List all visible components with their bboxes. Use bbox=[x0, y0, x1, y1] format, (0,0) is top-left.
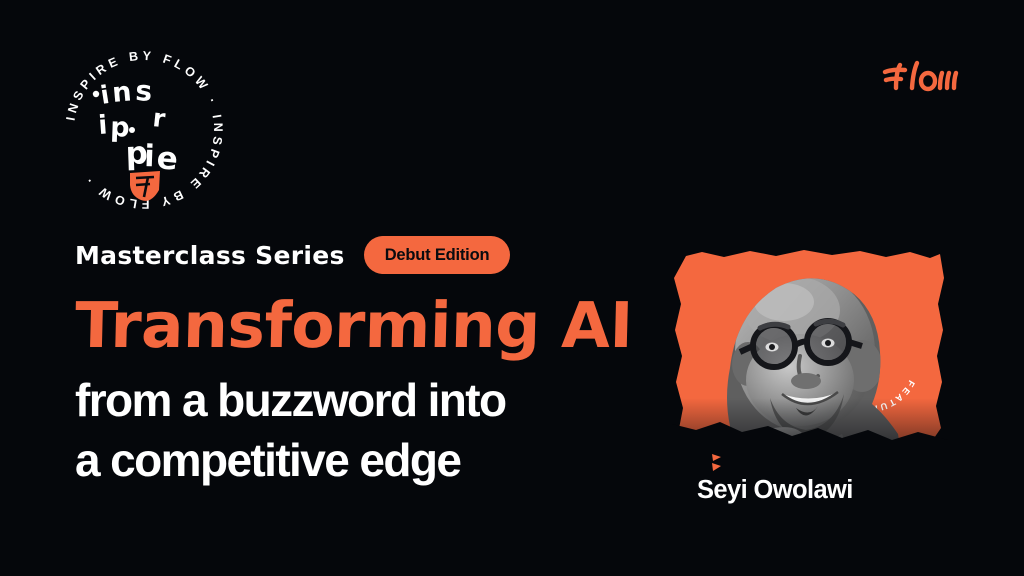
headline-subtext-line-1: from a buzzword into bbox=[75, 371, 675, 431]
badge-letter-s: s bbox=[135, 74, 153, 108]
badge-dot-mid bbox=[129, 127, 135, 133]
badge-letter-i3: i bbox=[144, 139, 156, 174]
masterclass-series-label: Masterclass Series bbox=[75, 241, 345, 270]
flow-wordmark-logo bbox=[880, 58, 962, 96]
speaker-card: FEATURING · FEATURING · bbox=[672, 248, 960, 516]
headline-subtext: from a buzzword into a competitive edge bbox=[75, 371, 675, 491]
badge-dot-left bbox=[93, 91, 99, 97]
badge-center-word: i n s i p r p i e bbox=[93, 74, 180, 178]
debut-edition-pill: Debut Edition bbox=[364, 236, 511, 274]
badge-letter-i2: i bbox=[97, 110, 108, 141]
badge-letter-r: r bbox=[151, 103, 167, 133]
poster-copy-block: Masterclass Series Debut Edition Transfo… bbox=[75, 236, 675, 491]
eyebrow-row: Masterclass Series Debut Edition bbox=[75, 236, 675, 274]
speaker-photo-block: FEATURING · FEATURING · bbox=[672, 248, 948, 476]
headline-accent: Transforming AI bbox=[74, 294, 676, 357]
headline-subtext-line-2: a competitive edge bbox=[75, 431, 675, 491]
orange-double-chevron-icon bbox=[708, 452, 730, 474]
badge-letter-n: n bbox=[111, 76, 133, 109]
badge-letter-i: i bbox=[98, 80, 111, 110]
inspire-by-flow-badge: INSPIRE BY FLOW · INSPIRE BY FLOW · i n … bbox=[56, 42, 232, 218]
speaker-name: Seyi Owolawi bbox=[697, 476, 853, 505]
poster-canvas: INSPIRE BY FLOW · INSPIRE BY FLOW · i n … bbox=[0, 0, 1024, 576]
